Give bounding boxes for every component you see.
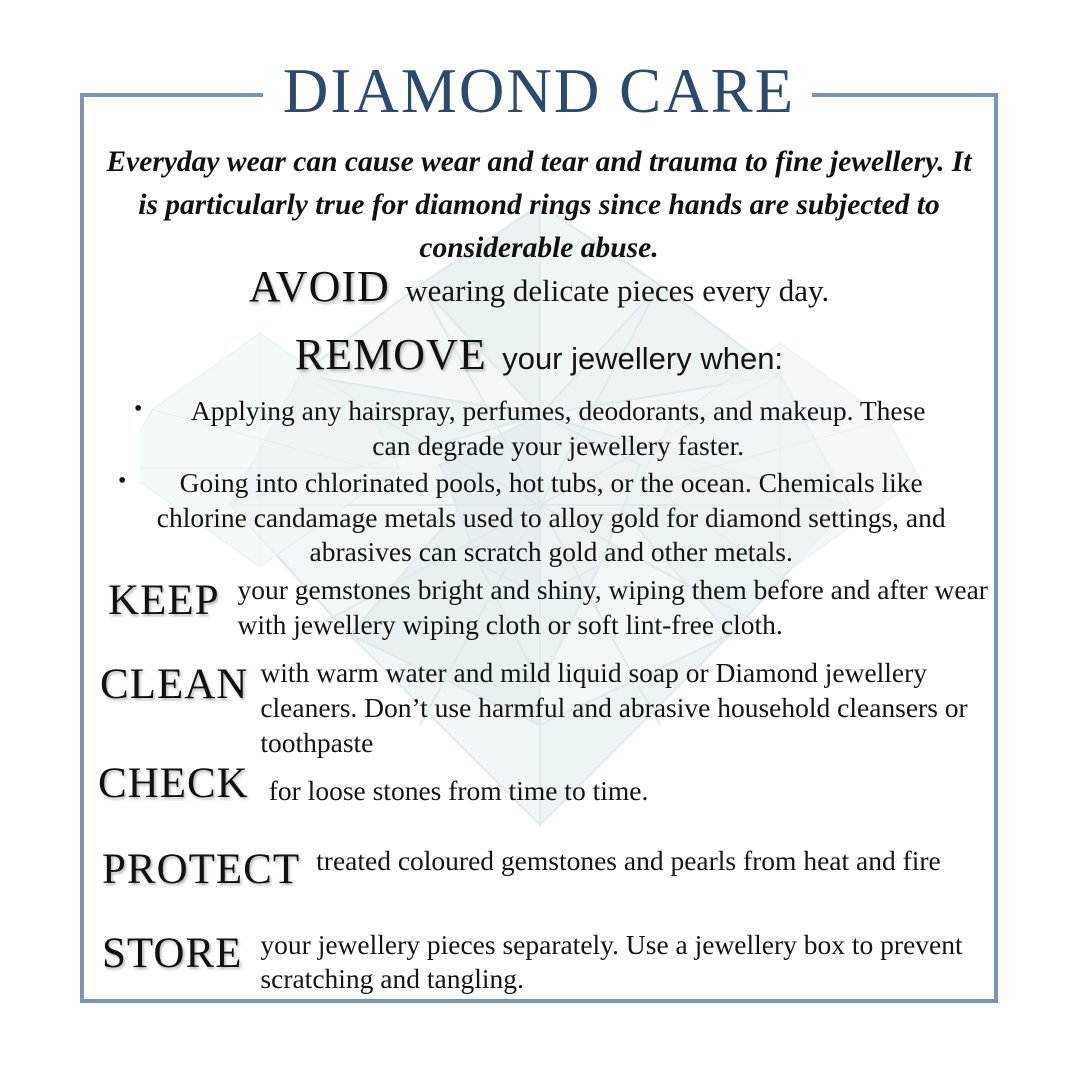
intro-paragraph: Everyday wear can cause wear and tear an… xyxy=(98,141,980,270)
section-clean: CLEAN with warm water and mild liquid so… xyxy=(100,656,996,761)
section-avoid: AVOID wearing delicate pieces every day. xyxy=(80,261,998,312)
poster-content: DIAMOND CARE Everyday wear can cause wea… xyxy=(80,93,998,1003)
avoid-text: wearing delicate pieces every day. xyxy=(390,273,830,308)
section-remove: REMOVE your jewellery when: xyxy=(80,329,998,380)
list-item: • Going into chlorinated pools, hot tubs… xyxy=(118,466,964,570)
keyword-keep: KEEP xyxy=(108,579,220,622)
section-check: CHECK for loose stones from time to time… xyxy=(98,762,958,809)
keyword-store: STORE xyxy=(102,932,242,975)
protect-text: treated coloured gemstones and pearls fr… xyxy=(316,844,972,878)
section-store: STORE your jewellery pieces separately. … xyxy=(102,928,982,997)
list-item-text: Going into chlorinated pools, hot tubs, … xyxy=(138,466,964,570)
section-keep: KEEP your gemstones bright and shiny, wi… xyxy=(108,571,996,643)
section-protect: PROTECT treated coloured gemstones and p… xyxy=(102,844,972,891)
bullet-marker-icon: • xyxy=(118,466,126,498)
keyword-clean: CLEAN xyxy=(100,663,248,706)
check-text: for loose stones from time to time. xyxy=(269,774,958,809)
keyword-avoid: AVOID xyxy=(249,262,390,311)
page-title: DIAMOND CARE xyxy=(80,60,998,123)
keep-text: your gemstones bright and shiny, wiping … xyxy=(238,573,997,643)
clean-text: with warm water and mild liquid soap or … xyxy=(260,656,996,761)
remove-text: your jewellery when: xyxy=(487,341,783,376)
diamond-care-poster: DIAMOND CARE Everyday wear can cause wea… xyxy=(0,0,1080,1080)
store-text: your jewellery pieces separately. Use a … xyxy=(260,928,982,997)
list-item-text: Applying any hairspray, perfumes, deodor… xyxy=(170,394,946,463)
list-item: • Applying any hairspray, perfumes, deod… xyxy=(134,394,946,463)
keyword-check: CHECK xyxy=(98,762,249,805)
keyword-remove: REMOVE xyxy=(295,330,487,379)
bullet-marker-icon: • xyxy=(134,394,142,426)
keyword-protect: PROTECT xyxy=(102,848,300,891)
